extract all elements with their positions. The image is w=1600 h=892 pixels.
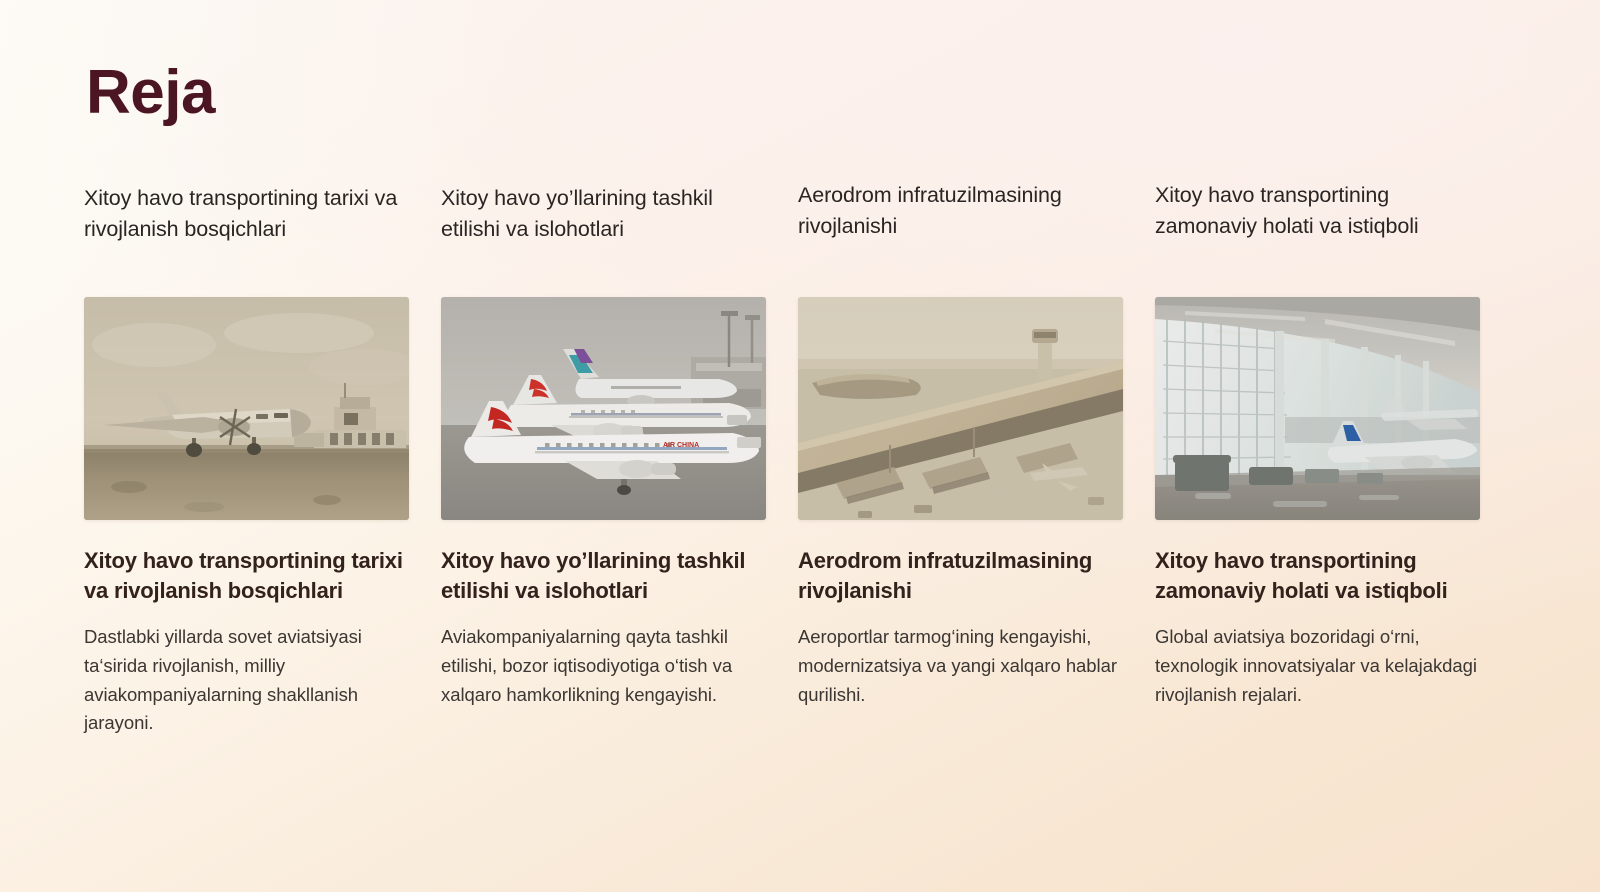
column-3: Aerodrom infratuzilmasining rivojlanishi: [798, 180, 1123, 738]
column-1-image: [84, 297, 409, 520]
column-2-body: Aviakompaniyalarning qayta tashkil etili…: [441, 623, 766, 710]
column-2: Xitoy havo yo’llarining tashkil etilishi…: [441, 180, 766, 738]
column-grid: Xitoy havo transportining tarixi va rivo…: [84, 180, 1484, 738]
presentation-slide: Reja Xitoy havo transportining tarixi va…: [0, 0, 1600, 892]
airport-terminal-aerial-photo: [798, 297, 1123, 520]
column-3-body: Aeroportlar tarmog‘ining kengayishi, mod…: [798, 623, 1123, 710]
column-3-top-heading: Aerodrom infratuzilmasining rivojlanishi: [798, 180, 1123, 297]
vintage-propeller-airplane-photo: [84, 297, 409, 520]
column-4-image: [1155, 297, 1480, 520]
column-1: Xitoy havo transportining tarixi va rivo…: [84, 180, 409, 738]
column-2-top-heading: Xitoy havo yo’llarining tashkil etilishi…: [441, 180, 766, 297]
column-2-image: AIR CHINA: [441, 297, 766, 520]
column-1-sub-heading: Xitoy havo transportining tarixi va rivo…: [84, 546, 409, 606]
column-4-body: Global aviatsiya bozoridagi o‘rni, texno…: [1155, 623, 1480, 710]
column-4-top-heading: Xitoy havo transportining zamonaviy hola…: [1155, 180, 1480, 297]
column-3-image: [798, 297, 1123, 520]
column-4-sub-heading: Xitoy havo transportining zamonaviy hola…: [1155, 546, 1480, 606]
modern-terminal-interior-photo: [1155, 297, 1480, 520]
air-china-jets-apron-photo: AIR CHINA: [441, 297, 766, 520]
column-1-body: Dastlabki yillarda sovet aviatsiyasi ta‘…: [84, 623, 409, 738]
page-title: Reja: [86, 60, 215, 125]
column-1-top-heading: Xitoy havo transportining tarixi va rivo…: [84, 180, 409, 297]
column-4: Xitoy havo transportining zamonaviy hola…: [1155, 180, 1480, 738]
column-3-sub-heading: Aerodrom infratuzilmasining rivojlanishi: [798, 546, 1123, 606]
column-2-sub-heading: Xitoy havo yo’llarining tashkil etilishi…: [441, 546, 766, 606]
